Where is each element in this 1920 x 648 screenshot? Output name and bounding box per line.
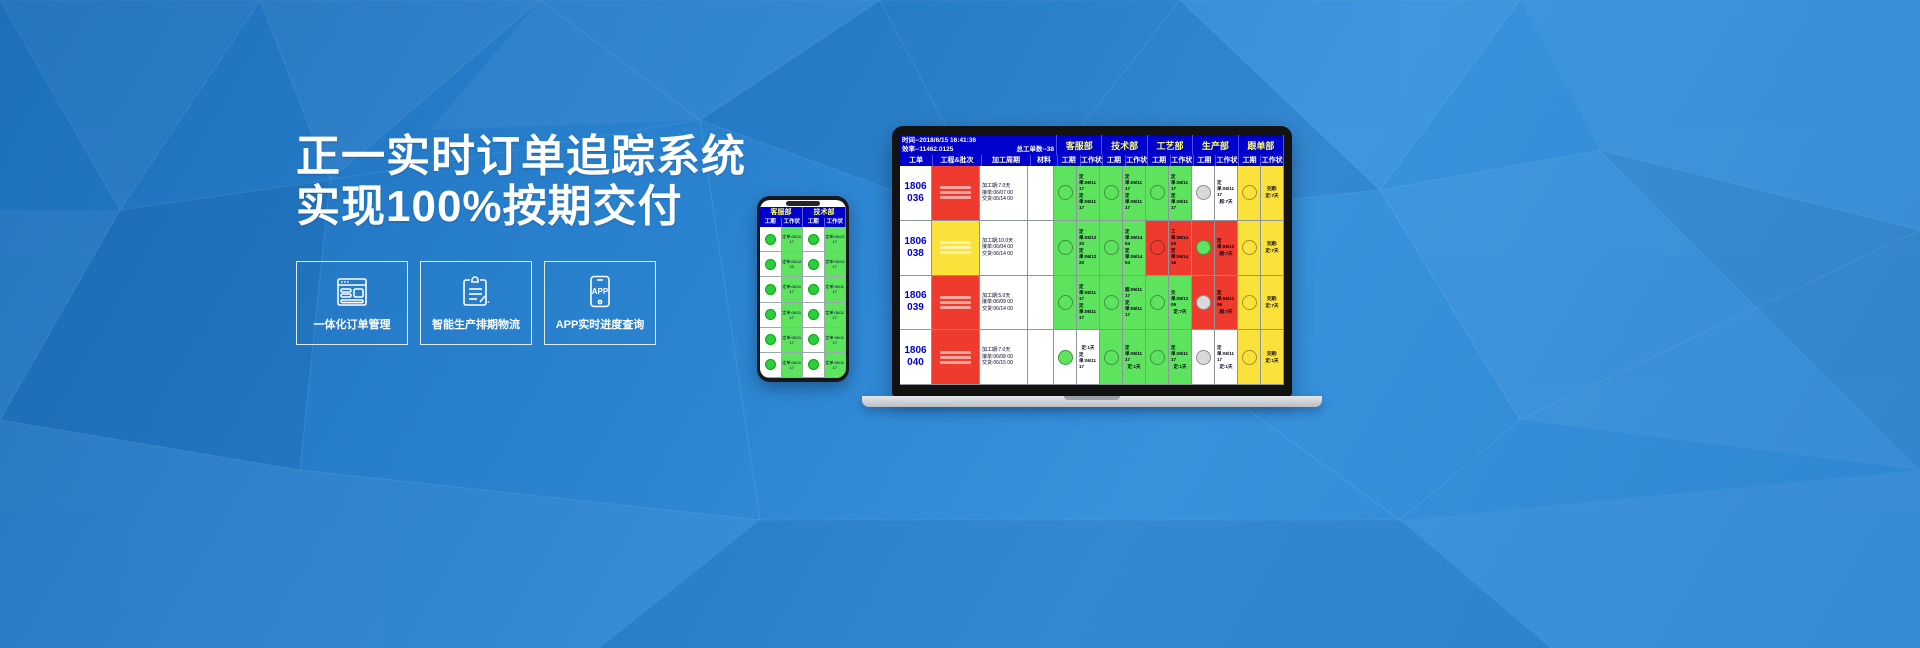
phone-date-text: 定单:06/13 17	[825, 259, 846, 269]
status-note: 定:7天	[1171, 309, 1188, 315]
processing-cycle-cell: 加工期:7.0天接单:06/07 00交货:06/14 00	[980, 166, 1028, 220]
phone-date-text: 定单:06/11 17	[825, 284, 846, 294]
phone-date-cell: 定单:06/12 20	[782, 252, 804, 276]
product-text-bar	[940, 301, 971, 304]
dept-1-duration-cell	[1100, 276, 1123, 330]
phone-table-row[interactable]: 定单:06/11 17定单:06/11 17	[760, 303, 846, 328]
phone-table-row[interactable]: 定单:06/11 17定单:06/13 17	[760, 227, 846, 252]
status-dot-icon	[1150, 295, 1165, 310]
feature-label-order-management: 一体化订单管理	[314, 316, 391, 332]
status-note: 定单:06/11 17	[1169, 193, 1191, 211]
status-note: 定单:06/14 04	[1123, 248, 1145, 266]
dept-4-duration-cell	[1238, 221, 1261, 275]
phone-status-dot-cell	[760, 353, 782, 377]
status-dot-icon	[808, 259, 819, 270]
headline-line-1: 正一实时订单追踪系统	[296, 132, 716, 182]
status-note: 定:1天	[1217, 364, 1234, 370]
status-note: 交单:06/12 09	[1169, 290, 1191, 308]
status-dot-icon	[1242, 185, 1257, 200]
dashboard-total-orders: 总工单数--38	[1016, 145, 1054, 154]
dashboard-department-3: 生产部	[1193, 135, 1238, 155]
status-dot-icon	[1196, 185, 1211, 200]
status-dot-icon	[808, 334, 819, 345]
status-note: 定单:06/11 17	[1215, 345, 1237, 363]
dept-2-status-cell: 工单:06/14 00定单:06/14 16	[1169, 221, 1192, 275]
phone-screen: 客服部 技术部 工期 工作状况 工期 工作状况 定单:06/11 17定单:06…	[760, 200, 846, 378]
dashboard-column-5: 工作状况	[1081, 155, 1104, 166]
dept-0-duration-cell	[1054, 221, 1077, 275]
dept-1-duration-cell	[1100, 330, 1123, 384]
phone-date-cell: 定单:06/11 17	[782, 277, 804, 301]
phone-table-row[interactable]: 定单:06/12 20定单:06/13 17	[760, 252, 846, 277]
phone-status-dot-cell	[803, 353, 825, 377]
status-dot-icon	[1242, 350, 1257, 365]
material-cell	[1028, 166, 1054, 220]
status-note: 定单:06/12 09	[1215, 290, 1237, 308]
dept-2-duration-cell	[1146, 276, 1169, 330]
dashboard-column-8: 工期	[1148, 155, 1171, 166]
status-note: 超:06/11 17	[1123, 287, 1145, 299]
status-dot-icon	[1150, 240, 1165, 255]
status-dot-icon	[1104, 350, 1119, 365]
phone-status-dot-cell	[760, 328, 782, 352]
cycle-line: 交货:06/14 00	[982, 251, 1013, 258]
dept-2-duration-cell	[1146, 166, 1169, 220]
order-number-part: 040	[907, 357, 924, 369]
status-note: 定单:06/11 17	[1123, 345, 1145, 363]
order-number-part: 1806	[904, 345, 926, 357]
dept-0-status-cell: 定单:06/11 17定单:06/11 17	[1077, 166, 1100, 220]
product-text-bar	[940, 191, 971, 194]
dashboard-column-13: 工作状况	[1261, 155, 1284, 166]
phone-department-header: 客服部 技术部	[760, 207, 846, 218]
status-dot-icon	[1104, 185, 1119, 200]
dept-4-status-cell: 交期:定:7天	[1261, 276, 1284, 330]
phone-status-dot-cell	[803, 252, 825, 276]
status-note: 定单:06/12 20	[1077, 229, 1099, 247]
status-dot-icon	[808, 234, 819, 245]
status-note: 超:7天	[1217, 309, 1234, 315]
phone-col-duration-2: 工期	[803, 218, 825, 227]
status-dot-icon	[1196, 295, 1211, 310]
status-dot-icon	[808, 309, 819, 320]
phone-col-status-2: 工作状况	[825, 218, 847, 227]
status-note: 定:1天	[1263, 358, 1280, 364]
dept-3-status-cell: 定单:06/11 17超:7天	[1215, 166, 1238, 220]
status-note: 定单:06/11 17	[1123, 174, 1145, 192]
status-note: 定单:06/11 17	[1123, 300, 1145, 318]
status-note: 交期:	[1265, 241, 1280, 247]
status-dot-icon	[1058, 185, 1073, 200]
status-note: 定单:06/11 17	[1077, 352, 1099, 370]
status-note: 超:7天	[1217, 251, 1234, 257]
dept-4-duration-cell	[1238, 276, 1261, 330]
dashboard-meta: 时间--2018/6/15 16:41:36 效率--11462.0125 总工…	[900, 135, 1057, 155]
dashboard-column-11: 工作状况	[1216, 155, 1239, 166]
status-dot-icon	[1104, 240, 1119, 255]
status-note: 定单:06/11 17	[1077, 303, 1099, 321]
product-text-bar	[940, 241, 971, 244]
status-note: 交期:	[1265, 296, 1280, 302]
status-note: 交期:	[1265, 351, 1280, 357]
dashboard-column-3: 材料	[1031, 155, 1058, 166]
dashboard-department-2: 工艺部	[1148, 135, 1193, 155]
order-number-cell: 1806036	[900, 166, 932, 220]
phone-date-cell: 定单:06/11 17	[782, 227, 804, 251]
phone-date-cell: 定单:06/11 17	[825, 277, 847, 301]
dept-4-status-cell: 交期:定:7天	[1261, 221, 1284, 275]
processing-cycle-cell: 加工期:10.0天接单:06/04 00交货:06/14 00	[980, 221, 1028, 275]
phone-status-dot-cell	[803, 303, 825, 327]
dashboard-column-1: 工程&批次	[933, 155, 982, 166]
status-note: 定单:06/14 04	[1123, 229, 1145, 247]
processing-cycle-cell: 加工期:7.0天接单:06/08 00交货:06/15 00	[980, 330, 1028, 384]
dashboard-department-1: 技术部	[1102, 135, 1147, 155]
feature-label-app-tracking: APP实时进度查询	[556, 316, 645, 332]
status-dot-icon	[765, 259, 776, 270]
phone-date-cell: 定单:06/11 17	[782, 303, 804, 327]
status-dot-icon	[1196, 240, 1211, 255]
phone-date-text: 定单:06/11 17	[782, 284, 803, 294]
status-note: 定:1天	[1079, 345, 1096, 351]
table-row[interactable]: 1806039加工期:5.0天接单:06/09 00交货:06/14 00定单:…	[900, 276, 1284, 331]
status-note: 定单:06/13	[1215, 238, 1237, 250]
product-batch-cell	[932, 166, 980, 220]
phone-status-dot-cell	[760, 277, 782, 301]
material-cell	[1028, 221, 1054, 275]
phone-date-cell: 定单:06/11 17	[782, 328, 804, 352]
phone-date-text: 定单:06/11 17	[782, 234, 803, 244]
phone-date-text: 定单:06/13 17	[825, 234, 846, 244]
laptop-lid: 时间--2018/6/15 16:41:36 效率--11462.0125 总工…	[892, 126, 1292, 396]
phone-date-text: 定单:06/11 17	[782, 335, 803, 345]
order-number-cell: 1806038	[900, 221, 932, 275]
status-note: 定:7天	[1263, 248, 1280, 254]
table-row[interactable]: 1806038加工期:10.0天接单:06/04 00交货:06/14 00定单…	[900, 221, 1284, 276]
table-row[interactable]: 1806036加工期:7.0天接单:06/07 00交货:06/14 00定单:…	[900, 166, 1284, 221]
table-row[interactable]: 1806040加工期:7.0天接单:06/08 00交货:06/15 00定:1…	[900, 330, 1284, 385]
cycle-line: 交货:06/15 00	[982, 360, 1013, 367]
product-batch-cell	[932, 276, 980, 330]
dept-3-status-cell: 定单:06/11 17定:1天	[1215, 330, 1238, 384]
status-dot-icon	[1058, 240, 1073, 255]
dept-0-duration-cell	[1054, 330, 1077, 384]
dashboard-column-0: 工单	[900, 155, 933, 166]
dept-3-duration-cell	[1192, 166, 1215, 220]
product-text-bar	[940, 251, 971, 254]
dashboard-column-header: 工单工程&批次加工周期材料工期工作状况工期工作状况工期工作状况工期工作状况工期工…	[900, 155, 1284, 166]
product-text-bar	[940, 361, 971, 364]
order-number-cell: 1806040	[900, 330, 932, 384]
laptop-base	[862, 396, 1322, 407]
order-number-cell: 1806039	[900, 276, 932, 330]
phone-table-row[interactable]: 定单:06/11 17定单:06/11 17	[760, 277, 846, 302]
feature-label-production-scheduling: 智能生产排期物流	[432, 316, 520, 332]
phone-table-body[interactable]: 定单:06/11 17定单:06/13 17定单:06/12 20定单:06/1…	[760, 227, 846, 378]
status-note: 定单:06/11 17	[1123, 193, 1145, 211]
headline-block: 正一实时订单追踪系统 实现100%按期交付	[296, 132, 716, 232]
status-note: 定单:06/11 17	[1215, 180, 1237, 198]
phone-date-text: 定单:06/11 17	[825, 335, 846, 345]
dashboard-column-9: 工作状况	[1171, 155, 1194, 166]
feature-box-list: 一体化订单管理 智能生产排期物流	[296, 261, 656, 345]
dept-0-status-cell: 定单:06/11 17定单:06/11 17	[1077, 276, 1100, 330]
dashboard-column-4: 工期	[1058, 155, 1081, 166]
promo-banner: 正一实时订单追踪系统 实现100%按期交付 一体化订单管理	[0, 0, 1920, 648]
phone-status-dot-cell	[760, 303, 782, 327]
mobile-app-icon: APP	[588, 275, 612, 309]
phone-date-cell: 定单:06/11 17	[825, 328, 847, 352]
status-note: 工单:06/14 00	[1169, 229, 1191, 247]
status-note: 定单:06/11 17	[1169, 345, 1191, 363]
status-dot-icon	[1058, 350, 1073, 365]
feature-box-order-management[interactable]: 一体化订单管理	[296, 261, 408, 345]
phone-subheader-row: 工期 工作状况 工期 工作状况	[760, 218, 846, 227]
phone-table-row[interactable]: 定单:06/11 17定单:06/11 17	[760, 328, 846, 353]
phone-col-status-1: 工作状况	[782, 218, 804, 227]
status-note: 定:7天	[1263, 303, 1280, 309]
dept-4-duration-cell	[1238, 166, 1261, 220]
dashboard-table-body[interactable]: 1806036加工期:7.0天接单:06/07 00交货:06/14 00定单:…	[900, 166, 1284, 385]
status-dot-icon	[1150, 350, 1165, 365]
product-text-bar	[940, 351, 971, 354]
order-number-part: 036	[907, 193, 924, 205]
dashboard-column-12: 工期	[1239, 155, 1262, 166]
dept-0-status-cell: 定:1天定单:06/11 17	[1077, 330, 1100, 384]
dept-4-duration-cell	[1238, 330, 1261, 384]
dashboard-column-6: 工期	[1103, 155, 1126, 166]
dept-1-status-cell: 定单:06/14 04定单:06/14 04	[1123, 221, 1146, 275]
status-dot-icon	[808, 284, 819, 295]
dashboard-screen: 时间--2018/6/15 16:41:36 效率--11462.0125 总工…	[900, 135, 1284, 385]
status-note: 定单:06/11 17	[1077, 193, 1099, 211]
material-cell	[1028, 330, 1054, 384]
order-number-part: 1806	[904, 181, 926, 193]
product-batch-cell	[932, 221, 980, 275]
dept-3-status-cell: 定单:06/13超:7天	[1215, 221, 1238, 275]
dept-4-status-cell: 交期:定:1天	[1261, 330, 1284, 384]
order-number-part: 1806	[904, 236, 926, 248]
dept-1-status-cell: 定单:06/11 17定:1天	[1123, 330, 1146, 384]
dept-0-duration-cell	[1054, 166, 1077, 220]
dashboard-column-10: 工期	[1194, 155, 1217, 166]
laptop-mockup: 时间--2018/6/15 16:41:36 效率--11462.0125 总工…	[862, 126, 1322, 407]
status-note: 定单:06/11 17	[1169, 174, 1191, 192]
status-dot-icon	[765, 234, 776, 245]
dashboard-layout-icon	[336, 275, 368, 309]
phone-dept-customer-service: 客服部	[760, 207, 803, 218]
dashboard-department-strip: 客服部技术部工艺部生产部跟单部	[1057, 135, 1284, 155]
dept-0-duration-cell	[1054, 276, 1077, 330]
dept-3-duration-cell	[1192, 330, 1215, 384]
phone-status-dot-cell	[803, 277, 825, 301]
dept-2-status-cell: 定单:06/11 17定单:06/11 17	[1169, 166, 1192, 220]
phone-dept-technical: 技术部	[803, 207, 846, 218]
status-dot-icon	[765, 359, 776, 370]
dept-1-status-cell: 定单:06/11 17定单:06/11 17	[1123, 166, 1146, 220]
status-note: 定:1天	[1125, 364, 1142, 370]
dept-3-status-cell: 定单:06/12 09超:7天	[1215, 276, 1238, 330]
product-text-bar	[940, 246, 971, 249]
status-dot-icon	[1150, 185, 1165, 200]
dept-1-duration-cell	[1100, 221, 1123, 275]
cycle-line: 交货:06/14 00	[982, 306, 1013, 313]
status-dot-icon	[1058, 295, 1073, 310]
phone-status-dot-cell	[760, 252, 782, 276]
dept-4-status-cell: 交期:定:7天	[1261, 166, 1284, 220]
processing-cycle-cell: 加工期:5.0天接单:06/09 00交货:06/14 00	[980, 276, 1028, 330]
phone-date-cell: 定单:06/11 17	[782, 353, 804, 377]
dept-3-duration-cell	[1192, 221, 1215, 275]
cycle-line: 交货:06/14 00	[982, 196, 1013, 203]
status-note: 定单:06/11 17	[1077, 174, 1099, 192]
dept-2-status-cell: 定单:06/11 17定:1天	[1169, 330, 1192, 384]
dashboard-column-7: 工作状况	[1126, 155, 1149, 166]
product-text-bar	[940, 186, 971, 189]
phone-date-text: 定单:06/11 17	[825, 310, 846, 320]
status-note: 定单:06/11 17	[1077, 284, 1099, 302]
status-dot-icon	[808, 359, 819, 370]
status-dot-icon	[1242, 295, 1257, 310]
status-note: 超:7天	[1217, 199, 1234, 205]
phone-date-cell: 定单:06/13 17	[825, 252, 847, 276]
headline-line-2: 实现100%按期交付	[296, 182, 716, 232]
phone-date-text: 定单:06/11 17	[782, 360, 803, 370]
order-number-part: 039	[907, 302, 924, 314]
order-number-part: 038	[907, 248, 924, 260]
phone-col-duration-1: 工期	[760, 218, 782, 227]
clipboard-checklist-icon	[461, 275, 491, 309]
status-note: 交期:	[1265, 186, 1280, 192]
dept-2-duration-cell	[1146, 221, 1169, 275]
dept-3-duration-cell	[1192, 276, 1215, 330]
smartphone-mockup: 客服部 技术部 工期 工作状况 工期 工作状况 定单:06/11 17定单:06…	[757, 196, 849, 382]
status-dot-icon	[1196, 350, 1211, 365]
product-text-bar	[940, 356, 971, 359]
phone-date-cell: 定单:06/13 17	[825, 227, 847, 251]
dept-1-status-cell: 超:06/11 17定单:06/11 17	[1123, 276, 1146, 330]
feature-box-production-scheduling[interactable]: 智能生产排期物流	[420, 261, 532, 345]
dashboard-rate: 效率--11462.0125	[902, 145, 953, 154]
dashboard-column-2: 加工周期	[982, 155, 1031, 166]
phone-table-row[interactable]: 定单:06/11 17定单:06/11 17	[760, 353, 846, 378]
phone-status-dot-cell	[760, 227, 782, 251]
status-note: 定单:06/14 16	[1169, 248, 1191, 266]
dashboard-top-header: 时间--2018/6/15 16:41:36 效率--11462.0125 总工…	[900, 135, 1284, 155]
phone-status-dot-cell	[803, 227, 825, 251]
status-note: 定:1天	[1171, 364, 1188, 370]
dashboard-time: 时间--2018/6/15 16:41:36	[902, 136, 1054, 145]
status-dot-icon	[765, 334, 776, 345]
status-dot-icon	[765, 284, 776, 295]
product-text-bar	[940, 196, 971, 199]
feature-box-app-tracking[interactable]: APP APP实时进度查询	[544, 261, 656, 345]
order-number-part: 1806	[904, 290, 926, 302]
status-dot-icon	[1242, 240, 1257, 255]
phone-date-text: 定单:06/11 17	[782, 310, 803, 320]
phone-date-cell: 定单:06/11 17	[825, 353, 847, 377]
product-text-bar	[940, 296, 971, 299]
status-note: 定:7天	[1263, 193, 1280, 199]
status-dot-icon	[765, 309, 776, 320]
phone-date-text: 定单:06/11 17	[825, 360, 846, 370]
product-batch-cell	[932, 330, 980, 384]
phone-status-dot-cell	[803, 328, 825, 352]
dept-2-duration-cell	[1146, 330, 1169, 384]
status-dot-icon	[1104, 295, 1119, 310]
dashboard-department-0: 客服部	[1057, 135, 1102, 155]
dept-2-status-cell: 交单:06/12 09定:7天	[1169, 276, 1192, 330]
svg-text:APP: APP	[592, 287, 609, 296]
status-note: 定单:06/12 20	[1077, 248, 1099, 266]
phone-date-cell: 定单:06/11 17	[825, 303, 847, 327]
product-text-bar	[940, 306, 971, 309]
dashboard-department-4: 跟单部	[1239, 135, 1284, 155]
dept-0-status-cell: 定单:06/12 20定单:06/12 20	[1077, 221, 1100, 275]
phone-date-text: 定单:06/12 20	[782, 259, 803, 269]
material-cell	[1028, 276, 1054, 330]
phone-notch	[786, 201, 820, 206]
dept-1-duration-cell	[1100, 166, 1123, 220]
